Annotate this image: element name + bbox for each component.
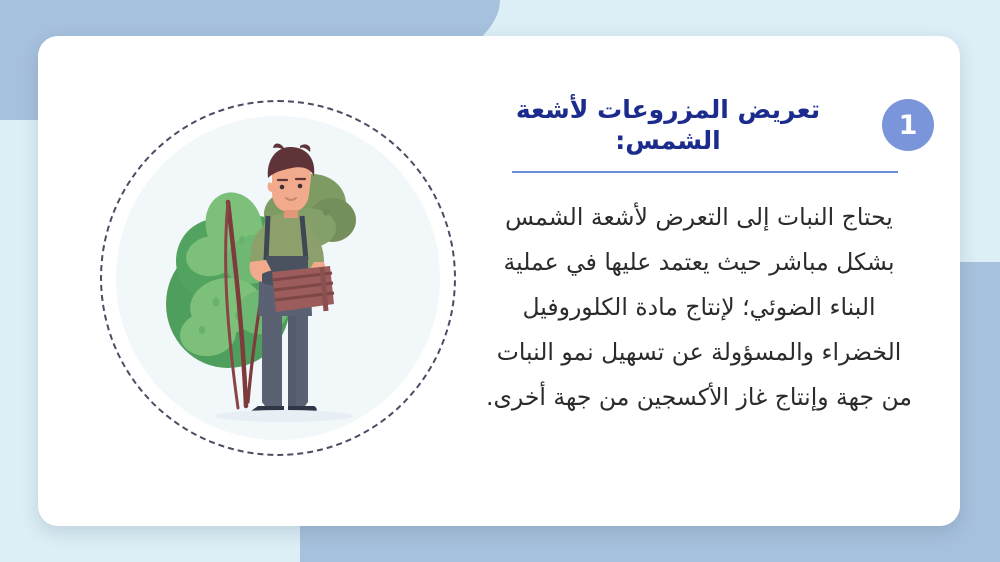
slide-root: 1 تعريض المزروعات لأشعة الشمس: يحتاج الن… <box>0 0 1000 562</box>
text-column: 1 تعريض المزروعات لأشعة الشمس: يحتاج الن… <box>464 94 934 420</box>
gardener-illustration-icon <box>116 116 440 440</box>
page-title: تعريض المزروعات لأشعة الشمس: <box>464 94 868 157</box>
step-number-badge: 1 <box>882 99 934 151</box>
heading-row: 1 تعريض المزروعات لأشعة الشمس: <box>464 94 934 157</box>
body-paragraph: يحتاج النبات إلى التعرض لأشعة الشمس بشكل… <box>464 195 934 421</box>
title-divider <box>512 171 898 173</box>
content-card: 1 تعريض المزروعات لأشعة الشمس: يحتاج الن… <box>38 36 960 526</box>
illustration-container <box>100 100 460 462</box>
